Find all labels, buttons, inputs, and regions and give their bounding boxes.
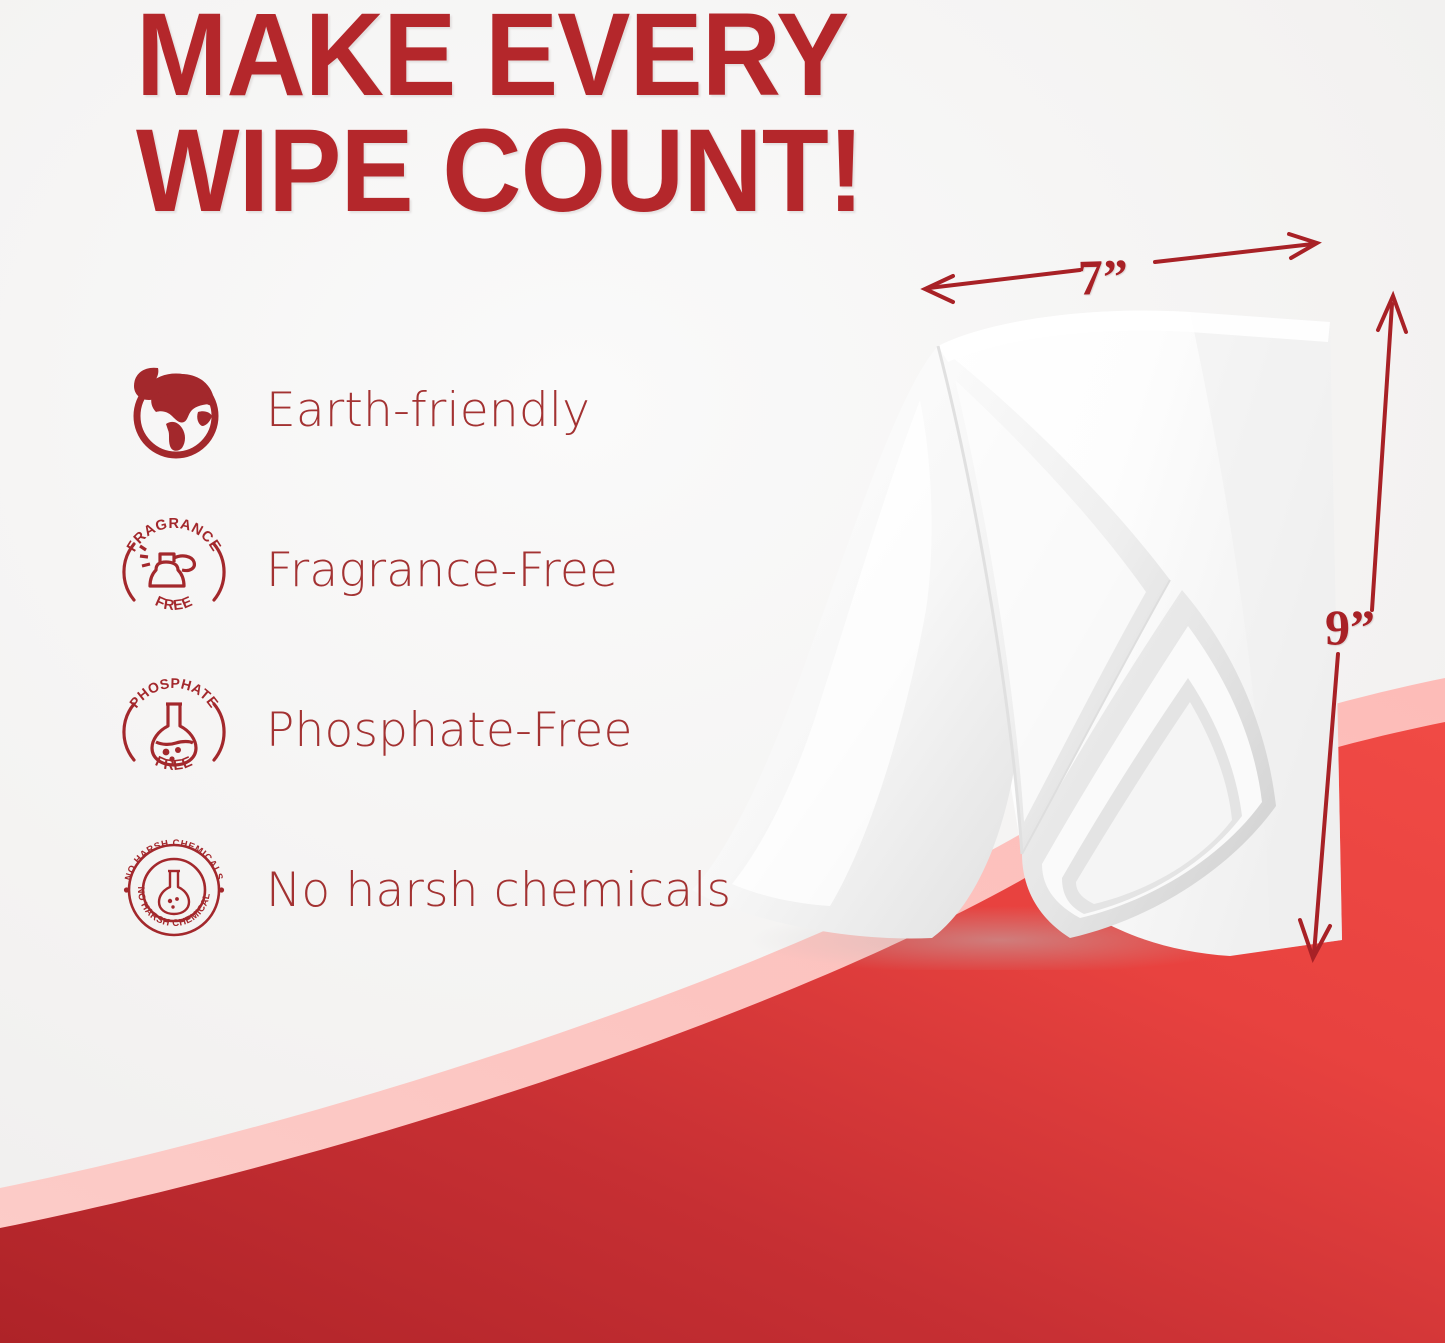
feature-label: Earth-friendly [266, 383, 590, 438]
feature-item-earth-friendly: Earth-friendly [104, 330, 834, 490]
phosphate-free-badge-icon: PHOSPHATE FREE [104, 670, 244, 790]
feature-label: No harsh chemicals [266, 863, 731, 918]
feature-item-fragrance-free: FRAGRANCE FREE Fragran [104, 490, 834, 650]
feature-item-phosphate-free: PHOSPHATE FREE [104, 650, 834, 810]
badge-top-text: FRAGRANCE [124, 516, 224, 555]
feature-label: Phosphate-Free [266, 703, 633, 758]
no-harsh-chemicals-seal-icon: NO HARSH CHEMICALS NO HARSH CHEMICALS [104, 829, 244, 951]
svg-text:FRAGRANCE: FRAGRANCE [124, 516, 224, 555]
page-title: MAKE EVERY WIPE COUNT! [136, 0, 1029, 229]
feature-list: Earth-friendly FRAGRANCE [104, 330, 834, 970]
product-feature-graphic: MAKE EVERY WIPE COUNT! [0, 0, 1445, 1343]
svg-text:FREE: FREE [153, 594, 196, 615]
feature-label: Fragrance-Free [266, 543, 618, 598]
badge-bottom-text: FREE [153, 594, 196, 615]
feature-item-no-harsh-chemicals: NO HARSH CHEMICALS NO HARSH CHEMICALS [104, 810, 834, 970]
width-dimension-label: 7” [1077, 247, 1129, 306]
fragrance-free-badge-icon: FRAGRANCE FREE [104, 510, 244, 630]
height-dimension-label: 9” [1325, 598, 1375, 656]
globe-leaf-icon [104, 354, 244, 466]
